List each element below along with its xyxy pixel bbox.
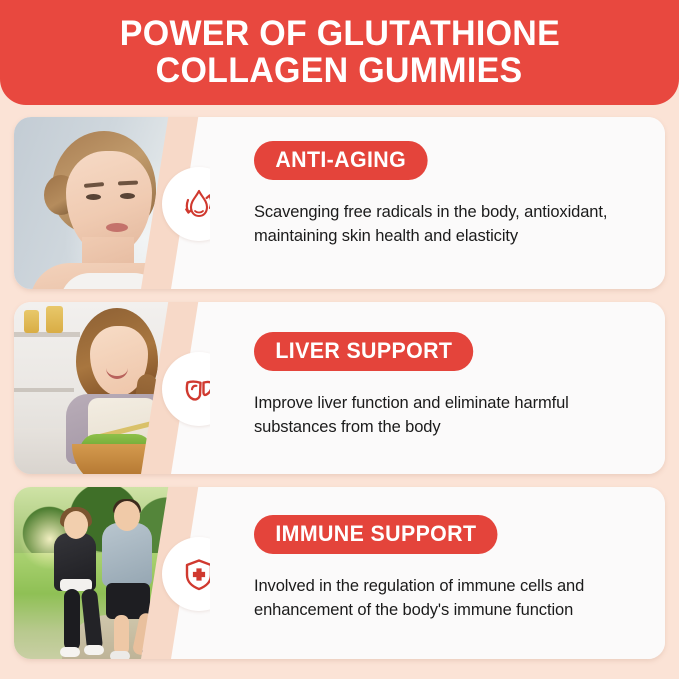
card-body-liver-support: LIVER SUPPORT Improve liver function and… [210, 302, 665, 474]
badge-immune-support: IMMUNE SUPPORT [254, 515, 498, 554]
face-rejuvenation-icon [175, 180, 210, 228]
description-liver-support: Improve liver function and eliminate har… [254, 391, 643, 439]
woman-head [64, 511, 88, 539]
benefit-card-immune-support[interactable]: IMMUNE SUPPORT Involved in the regulatio… [14, 487, 665, 659]
page-title-line-1: POWER OF GLUTATHIONE [119, 15, 559, 52]
kitchen-jar-1 [24, 310, 39, 333]
shoe-2 [84, 645, 104, 655]
header-banner: POWER OF GLUTATHIONE COLLAGEN GUMMIES [0, 0, 679, 105]
man-hoodie [102, 523, 152, 587]
man-head [114, 501, 140, 531]
shield-plus-icon [175, 550, 210, 598]
woman-leg-left [64, 589, 80, 651]
card-photo-liver-support [14, 302, 210, 474]
badge-anti-aging: ANTI-AGING [254, 141, 427, 180]
lips-shape [106, 223, 128, 232]
card-body-immune-support: IMMUNE SUPPORT Involved in the regulatio… [210, 487, 665, 659]
benefit-card-anti-aging[interactable]: ANTI-AGING Scavenging free radicals in t… [14, 117, 665, 289]
card-photo-anti-aging [14, 117, 210, 289]
badge-liver-support: LIVER SUPPORT [254, 332, 474, 371]
eye-right [120, 193, 135, 199]
benefit-card-list: ANTI-AGING Scavenging free radicals in t… [0, 111, 679, 672]
page-title-line-2: COLLAGEN GUMMIES [156, 52, 523, 89]
description-immune-support: Involved in the regulation of immune cel… [254, 574, 643, 622]
kitchen-jar-2 [46, 306, 63, 333]
man-leg-left [114, 615, 129, 655]
card-photo-immune-support [14, 487, 210, 659]
shoe-3 [110, 651, 130, 659]
kitchen-shelf-lower [14, 388, 74, 392]
card-body-anti-aging: ANTI-AGING Scavenging free radicals in t… [210, 117, 665, 289]
benefit-card-liver-support[interactable]: LIVER SUPPORT Improve liver function and… [14, 302, 665, 474]
liver-icon [175, 365, 210, 413]
eye-left [86, 194, 101, 200]
description-anti-aging: Scavenging free radicals in the body, an… [254, 200, 643, 248]
shoe-1 [60, 647, 80, 657]
